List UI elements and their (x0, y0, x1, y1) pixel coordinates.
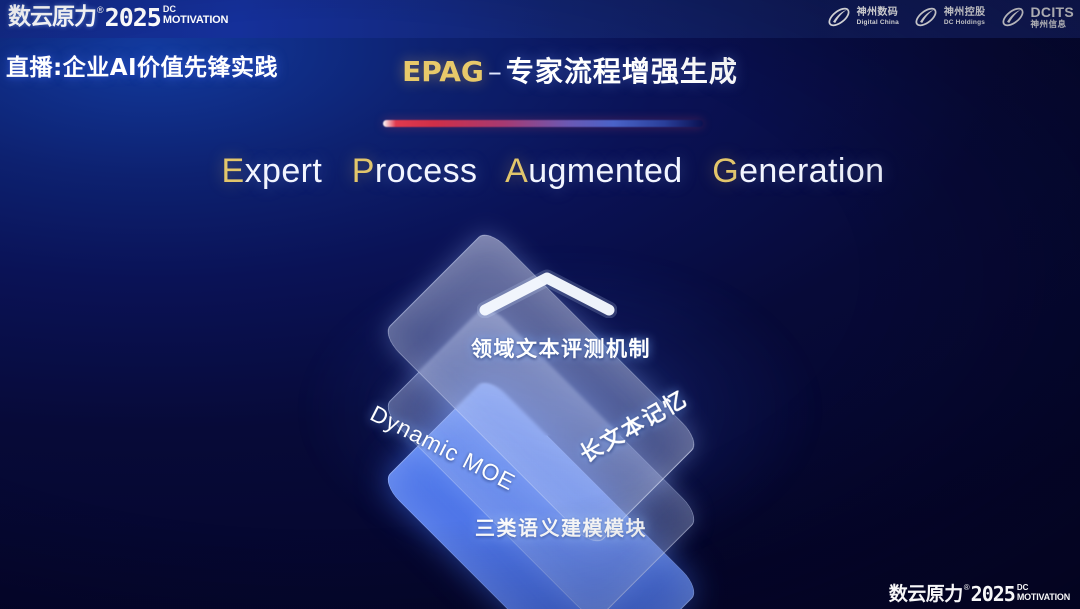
logo-dc-holdings-en: DC Holdings (944, 20, 986, 27)
corner-watermark: 数云原力 ® 2025 DC MOTIVATION (889, 583, 1070, 605)
watermark-registered-mark: ® (964, 583, 970, 593)
diagram-layer-top (381, 228, 701, 548)
slide-title-acronym: EPAG (402, 55, 484, 88)
watermark-cn: 数云原力 (889, 583, 963, 605)
watermark-year: 2025 (971, 583, 1015, 605)
watermark-dc-line1: DC (1017, 584, 1070, 592)
logo-dc-holdings-cn: 神州控股 (944, 8, 986, 18)
expansion-word-augmented: Augmented (505, 152, 683, 190)
center-glow (300, 250, 820, 570)
gradient-divider (383, 120, 703, 127)
brand-name-cn: 数云原力 (8, 4, 96, 31)
watermark-dc-line2: MOTIVATION (1017, 592, 1070, 602)
logo-digital-china-cn: 神州数码 (857, 8, 899, 18)
diagram-layer-middle-label-left: Dynamic MOE (366, 400, 520, 496)
diagram-layer-middle (381, 303, 701, 609)
diagram-layer-middle-label-right: 长文本记忆 (573, 381, 693, 469)
logo-dcits-cn: 神州信息 (1031, 21, 1075, 30)
slide-title-cn: 专家流程增强生成 (506, 55, 738, 88)
swirl-logo-icon (826, 4, 852, 30)
brand-dc-motivation: DC MOTIVATION (163, 5, 228, 26)
watermark-dc-motivation: DC MOTIVATION (1017, 584, 1070, 602)
logo-dcits-en: DCITS (1031, 5, 1075, 19)
logo-dcits: DCITS 神州信息 (1000, 4, 1075, 30)
brand-registered-mark: ® (97, 4, 104, 16)
expansion-word-process: Process (352, 152, 478, 190)
logo-digital-china: 神州数码 Digital China (826, 4, 899, 30)
vignette-overlay (0, 0, 1080, 609)
expansion-word-expert: Expert (222, 152, 323, 190)
logo-dc-holdings: 神州控股 DC Holdings (913, 4, 986, 30)
slide-title-dash: – (484, 55, 506, 88)
layered-architecture-diagram: 领域文本评测机制 Dynamic MOE 长文本记忆 三类语义建模模块 (0, 0, 1080, 609)
brand-dc-line2: MOTIVATION (163, 14, 228, 26)
slide-title: EPAG–专家流程增强生成 (0, 50, 1080, 90)
brand-dc-line1: DC (163, 5, 228, 14)
diagram-layer-bottom-label: 三类语义建模模块 (0, 512, 1080, 541)
brand-year: 2025 (105, 4, 161, 31)
expansion-word-generation: Generation (712, 152, 884, 190)
slide-stage: 数云原力 ® 2025 DC MOTIVATION 神州数码 Digital C… (0, 0, 1080, 609)
swirl-logo-icon (913, 4, 939, 30)
logo-digital-china-en: Digital China (857, 20, 899, 27)
diagram-layer-bottom (381, 376, 701, 609)
partner-logo-group: 神州数码 Digital China 神州控股 DC Holdings DCIT… (826, 4, 1074, 30)
acronym-expansion: Expert Process Augmented Generation (0, 152, 1080, 191)
chevron-up-icon (477, 268, 617, 318)
event-brand-logo: 数云原力 ® 2025 DC MOTIVATION (8, 4, 228, 31)
swirl-logo-icon (1000, 4, 1026, 30)
diagram-layer-top-label: 领域文本评测机制 (0, 333, 1080, 363)
